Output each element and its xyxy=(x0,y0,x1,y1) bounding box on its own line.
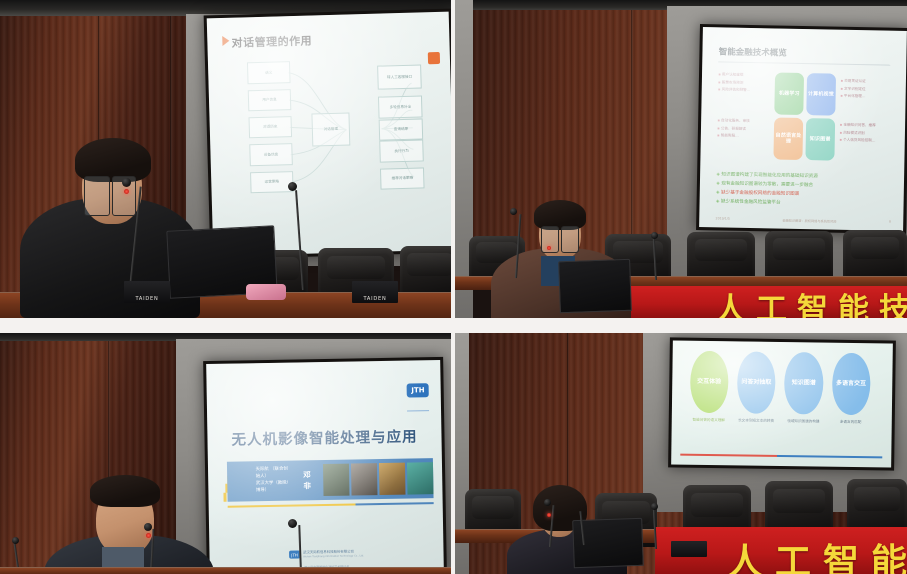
microphone-head[interactable] xyxy=(651,503,658,510)
diagram-input-node: 运营策略 xyxy=(250,171,294,194)
footer-date: 2019/1/5 xyxy=(716,216,730,221)
microphone-head[interactable] xyxy=(544,499,551,506)
banner-text: 人工智能技 xyxy=(727,533,907,574)
diagram-output-node: 查询结果 xyxy=(379,118,423,141)
microphone-head[interactable] xyxy=(122,178,131,187)
bullets-left-bottom: 自动化服务、审核 公告、研报解读 智能客服… xyxy=(717,117,770,141)
collage-gutter-vertical xyxy=(451,0,455,574)
projection-screen: JTH 无人机影像智能处理与应用 天际航 （联合创始人） 武汉大学（教授/博导）… xyxy=(203,357,447,574)
microphone-head[interactable] xyxy=(288,182,297,191)
bullets-right-top: 交易凭证认证 文字识别定位 平台化管理… xyxy=(840,78,898,102)
circle-qa-extraction: 问答对抽取 xyxy=(737,351,776,414)
microphone-head[interactable] xyxy=(510,208,517,215)
microphone-head[interactable] xyxy=(144,523,152,531)
microphone-head[interactable] xyxy=(12,537,19,544)
slide-bottom-rule xyxy=(680,454,882,459)
conclusion-list: 知识图谱构建了实现智能化应用的基础知识资源 现有金融知识图谱较为零散，需要进一步… xyxy=(716,171,892,210)
bullets-right-bottom: 金融知识问答、推荐 风险模式识别 个人信贷风险控制… xyxy=(839,122,901,146)
conference-chair xyxy=(765,231,833,281)
jth-logo-icon: JTH xyxy=(407,383,429,397)
slide-surface: 智能金融技术概览 机器学习 计算机视觉 自然语言处理 知识图谱 用户认知建模 股… xyxy=(699,27,907,231)
microphone-led xyxy=(124,189,129,194)
taiden-mic-unit[interactable]: TAIDEN xyxy=(124,281,170,303)
thumbnail-strip xyxy=(323,462,434,496)
footer-title: 金融知识图谱：股权网络与系统性风险 xyxy=(782,218,836,224)
circle-knowledge-graph: 知识图谱 xyxy=(784,352,823,415)
diagram-center-node: 对话管理 xyxy=(311,112,351,146)
subtitle-band: 天际航 （联合创始人） 武汉大学（教授/博导） 邓非 xyxy=(227,458,434,501)
microphone-led xyxy=(146,533,151,538)
quadrant-computer-vision: 计算机视觉 xyxy=(806,73,835,116)
slide-surface: 交互体验 问答对抽取 知识图谱 多语言交互 智能问答的语义理解 长文本到短文本的… xyxy=(671,340,893,467)
quadrant-knowledge-graph: 知识图谱 xyxy=(805,118,834,161)
slide-title: 无人机影像智能处理与应用 xyxy=(207,425,441,450)
title-divider xyxy=(719,61,890,65)
eyeglasses xyxy=(561,226,579,253)
presenter xyxy=(44,473,224,574)
diagram-input-node: 用户信息 xyxy=(247,89,291,112)
slide-surface: 对话管理的作用 语义 用户信息 对话历史 xyxy=(207,12,451,257)
projection-screen: 交互体验 问答对抽取 知识图谱 多语言交互 智能问答的语义理解 长文本到短文本的… xyxy=(668,337,896,470)
slide-title: 智能金融技术概览 xyxy=(719,45,787,58)
presenter-hair xyxy=(90,475,160,507)
circle-caption: 长文本到短文本的转换 xyxy=(734,418,778,423)
collage-panel-bottom-left: JTH 无人机影像智能处理与应用 天际航 （联合创始人） 武汉大学（教授/博导）… xyxy=(0,333,451,574)
laptop-screen xyxy=(558,259,632,313)
projection-screen: 对话管理的作用 语义 用户信息 对话历史 xyxy=(204,9,451,260)
footer-company: 武汉天际航信息科技股份有限公司 Wuhan Tianjihang Informa… xyxy=(303,549,364,558)
quadrant-machine-learning: 机器学习 xyxy=(775,72,804,115)
thumbnail-image xyxy=(407,462,434,495)
thumbnail-image xyxy=(323,463,350,496)
collage-panel-bottom-right: 交互体验 问答对抽取 知识图谱 多语言交互 智能问答的语义理解 长文本到短文本的… xyxy=(455,333,907,574)
diagram-output-node: 转人工客服接口 xyxy=(378,65,422,90)
bullets-left-top: 用户认知建模 股票市场预测 风险评估和预警… xyxy=(718,71,771,95)
circle-caption: 领域知识图谱的构建 xyxy=(781,419,825,424)
microphone-led xyxy=(547,513,551,517)
taiden-mic-unit[interactable]: TAIDEN xyxy=(352,281,398,303)
thumbnail-image xyxy=(351,463,378,496)
collage-panel-top-left: 对话管理的作用 语义 用户信息 对话历史 xyxy=(0,0,451,318)
diagram-input-node: 对话历史 xyxy=(248,116,292,139)
conference-desk xyxy=(0,567,451,574)
circle-caption: 多语言的匹配 xyxy=(829,420,873,425)
eyeglasses xyxy=(84,176,110,216)
circle-interaction-experience: 交互体验 xyxy=(689,351,728,414)
conference-chair xyxy=(843,230,907,280)
logo-divider xyxy=(407,410,429,411)
conference-chair xyxy=(400,246,451,298)
conference-chair xyxy=(687,232,755,282)
slide-surface: JTH 无人机影像智能处理与应用 天际航 （联合创始人） 武汉大学（教授/博导）… xyxy=(206,360,444,573)
diagram-output-node: 多轮信息补全 xyxy=(378,96,422,119)
collage-panel-top-right: 智能金融技术概览 机器学习 计算机视觉 自然语言处理 知识图谱 用户认知建模 股… xyxy=(455,0,907,318)
diagram-input-node: 设备信息 xyxy=(249,143,293,166)
diagram-output-node: 执行行为 xyxy=(380,140,424,163)
quadrant-nlp: 自然语言处理 xyxy=(774,117,803,160)
circle-caption: 智能问答的语义理解 xyxy=(687,418,731,423)
banner-text: 人工智能技 xyxy=(715,286,907,318)
footer-page-number: 8 xyxy=(889,220,891,225)
taiden-mic-unit[interactable] xyxy=(671,541,707,557)
thumbnail-image xyxy=(379,462,406,495)
photo-collage: 对话管理的作用 语义 用户信息 对话历史 xyxy=(0,0,907,574)
band-underline xyxy=(227,502,433,508)
projection-screen: 智能金融技术概览 机器学习 计算机视觉 自然语言处理 知识图谱 用户认知建模 股… xyxy=(696,24,907,234)
presenter-name: 邓非 xyxy=(303,469,315,491)
event-banner: 人工智能技 xyxy=(615,286,907,318)
microphone-head[interactable] xyxy=(651,232,658,239)
slide-footer: 2019/1/5 金融知识图谱：股权网络与系统性风险 8 xyxy=(716,216,892,224)
microphone-head[interactable] xyxy=(288,519,297,528)
microphone-led xyxy=(547,246,551,250)
diagram-input-node: 语义 xyxy=(247,61,291,84)
pink-object xyxy=(246,284,286,300)
circle-multilingual: 多语言交互 xyxy=(831,353,870,416)
presenter-affiliation: 天际航 （联合创始人） 武汉大学（教授/博导） xyxy=(227,467,291,495)
diagram-output-node: 推荐对话策略 xyxy=(380,167,424,190)
